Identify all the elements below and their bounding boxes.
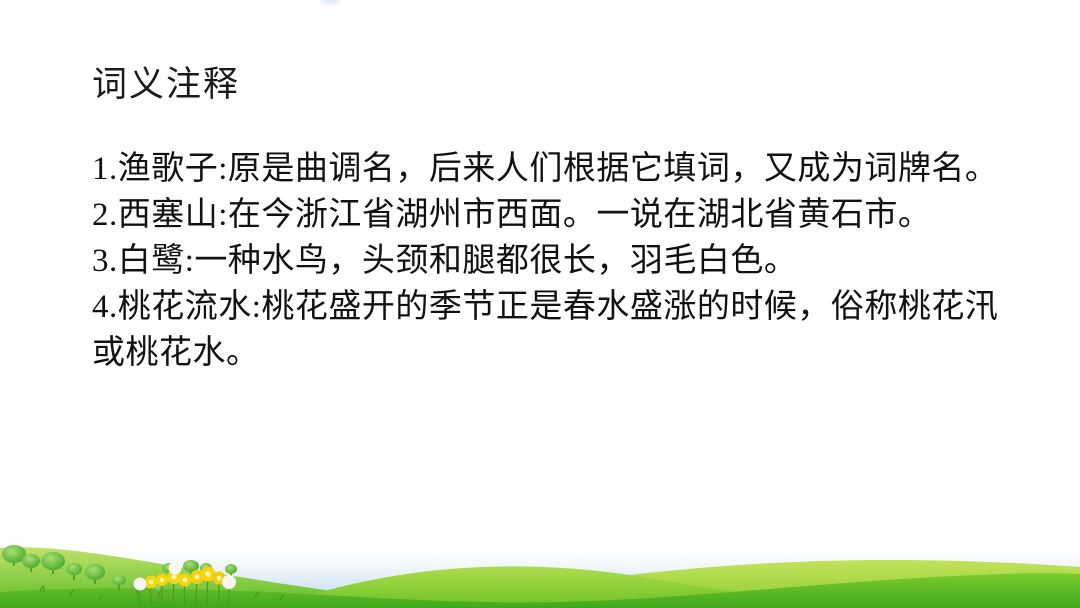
white-flower-icon — [134, 578, 147, 591]
pale-blue-mark-icon — [318, 0, 344, 7]
white-flower-icon — [222, 575, 236, 589]
note-item-1: 1.渔歌子:原是曲调名，后来人们根据它填词，又成为词牌名。 — [92, 146, 1012, 192]
yellow-flower-icon — [179, 574, 192, 587]
vocabulary-notes-list: 1.渔歌子:原是曲调名，后来人们根据它填词，又成为词牌名。 2.西塞山:在今浙江… — [92, 146, 1012, 376]
scenery-illustration — [0, 512, 1080, 608]
grass-hills-scenery — [0, 512, 1080, 608]
note-item-3: 3.白鹭:一种水鸟，头颈和腿都很长，羽毛白色。 — [92, 238, 1012, 284]
page-title: 词义注释 — [92, 63, 240, 107]
white-flower-icon — [169, 562, 182, 575]
note-item-2: 2.西塞山:在今浙江省湖州市西面。一说在湖北省黄石市。 — [92, 192, 1012, 238]
slide-canvas: 词义注释 1.渔歌子:原是曲调名，后来人们根据它填词，又成为词牌名。 2.西塞山… — [0, 0, 1080, 608]
yellow-flower-icon — [145, 576, 158, 589]
note-item-4: 4.桃花流水:桃花盛开的季节正是春水盛涨的时候，俗称桃花汛或桃花水。 — [92, 284, 1012, 376]
yellow-flower-icon — [156, 574, 168, 586]
